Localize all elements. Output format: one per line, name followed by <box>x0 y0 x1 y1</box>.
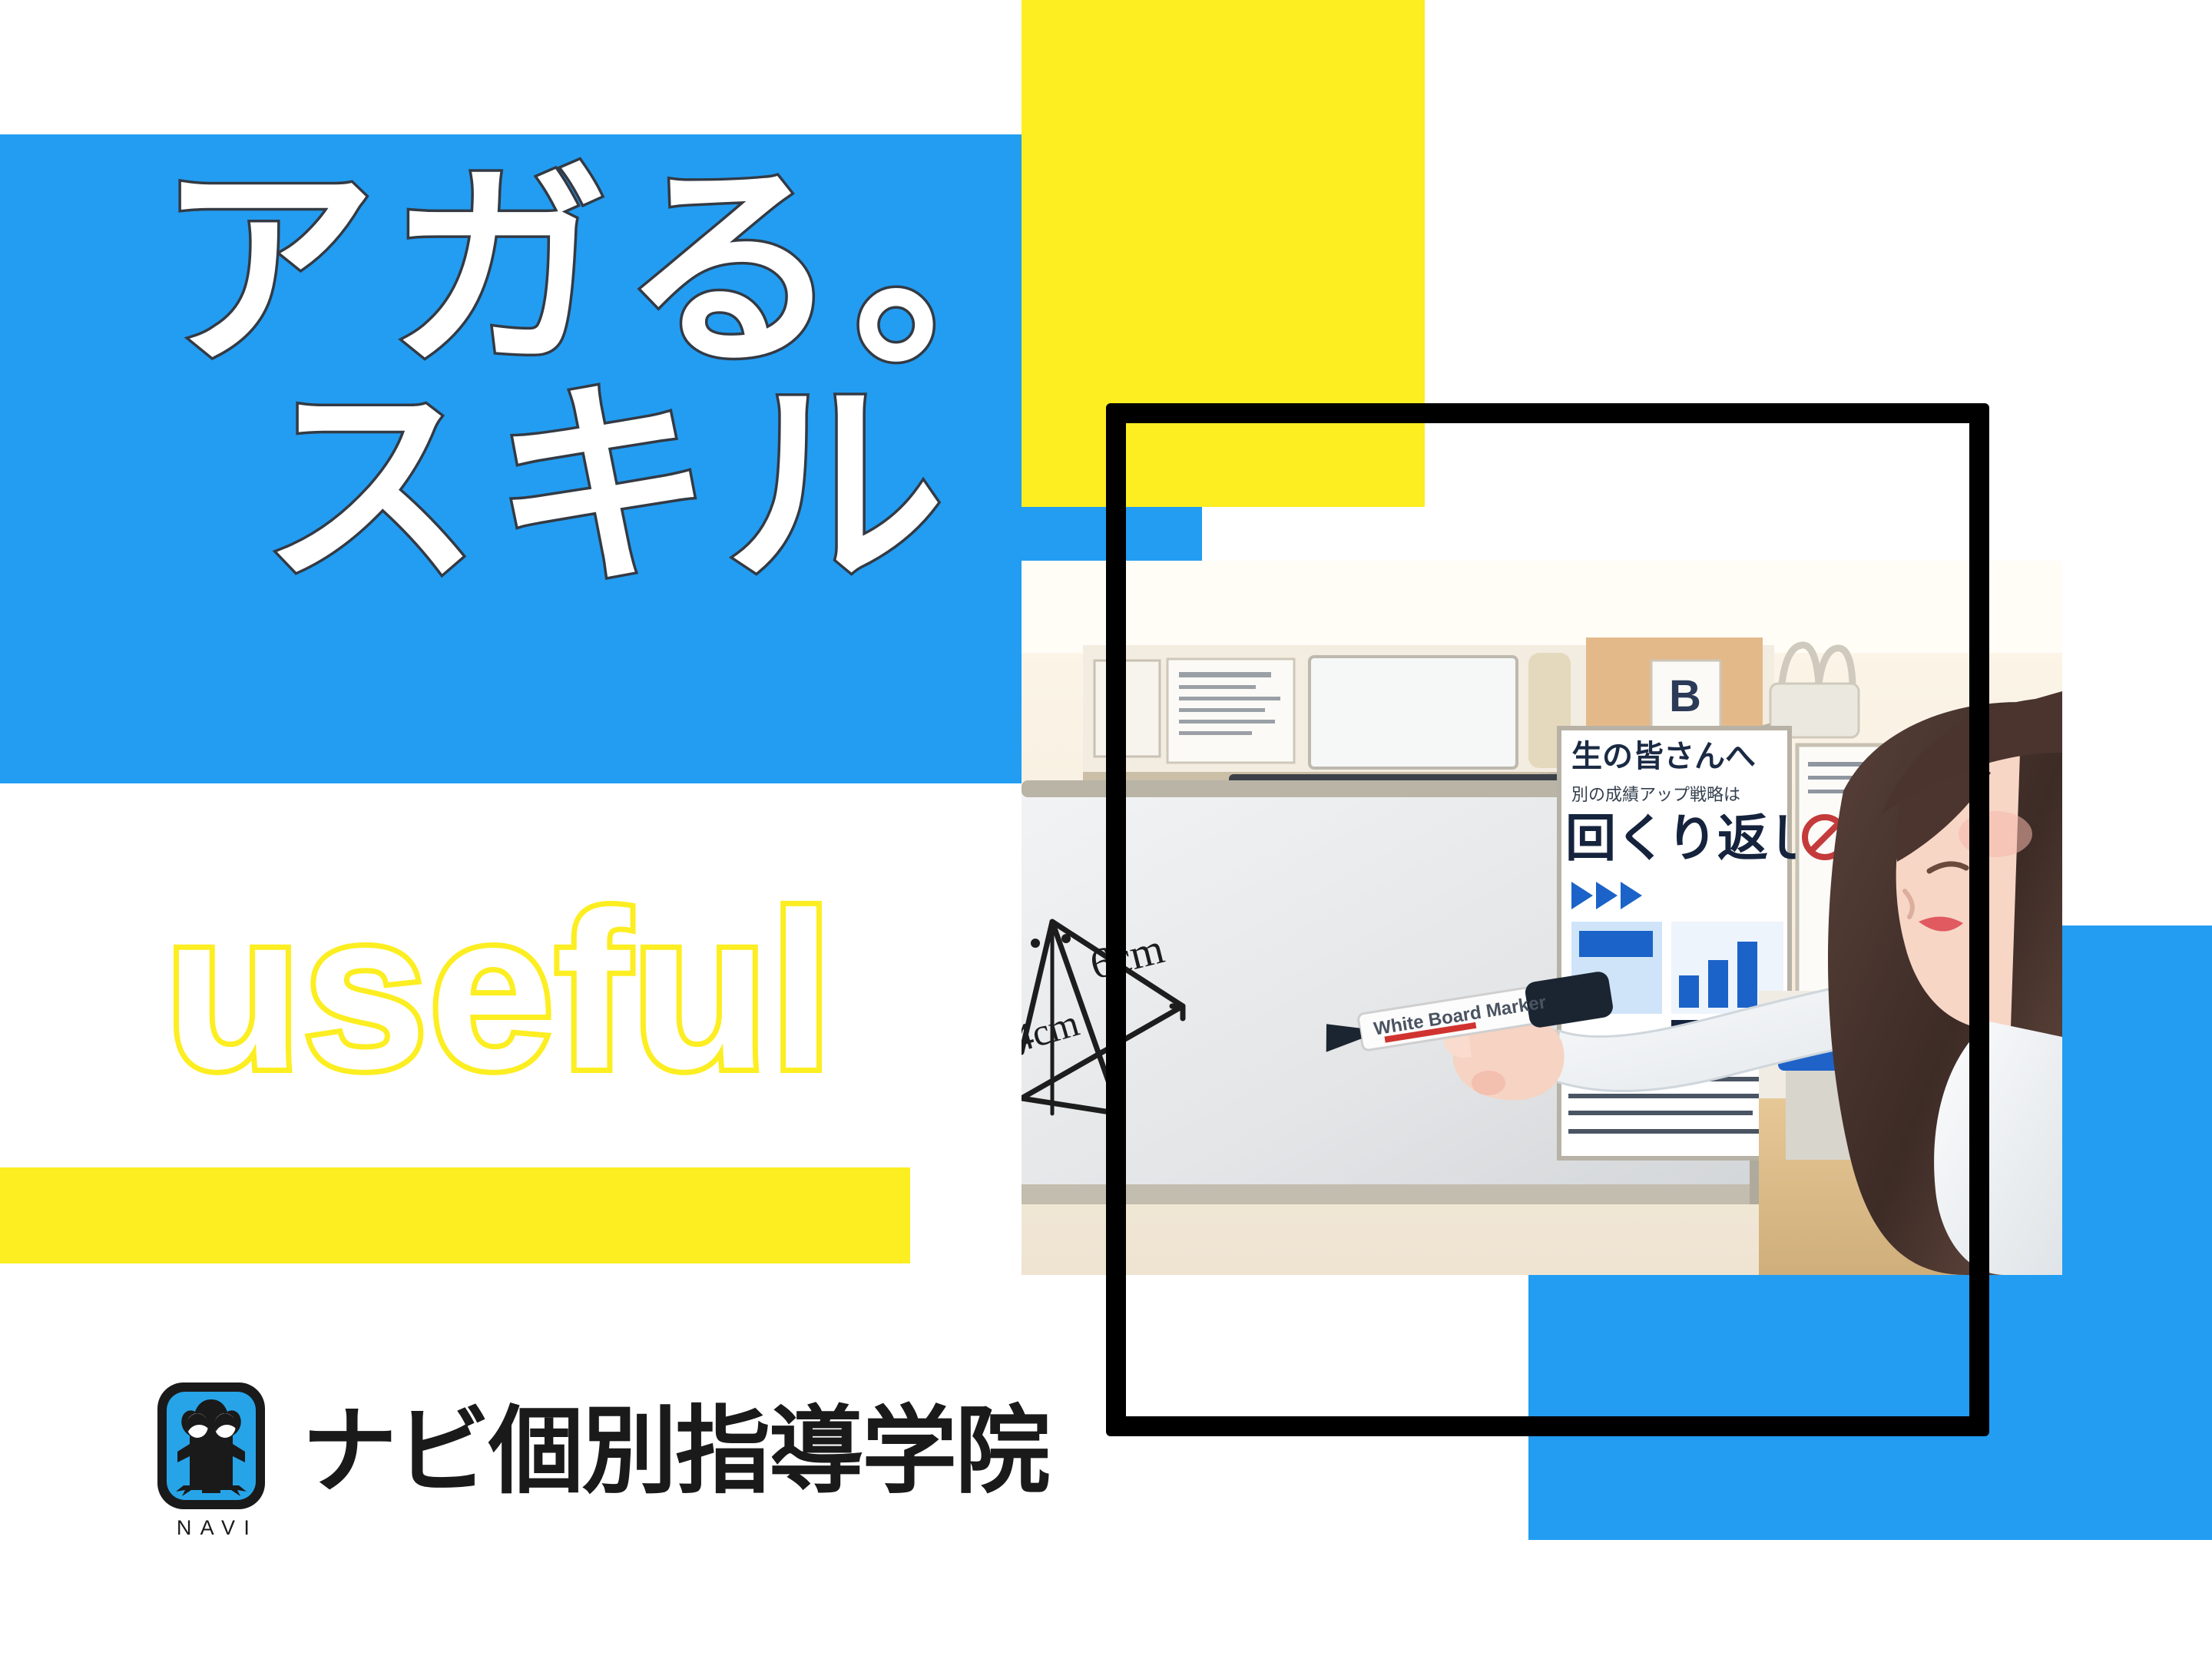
subhead-word: useful <box>165 879 933 1102</box>
svg-text:B: B <box>1669 671 1701 721</box>
headline: アガる。 スキル <box>142 165 1033 593</box>
yellow-band-bottom <box>0 1167 910 1263</box>
promo-banner: アガる。 スキル useful NAVI ナビ個別指導学院 <box>0 0 2212 1659</box>
logo-wordmark: ナビ個別指導学院 <box>302 1404 1048 1499</box>
subhead: useful <box>165 879 933 1102</box>
svg-text:別の成績アップ戦略は: 別の成績アップ戦略は <box>1571 785 1740 804</box>
logo-mark: NAVI <box>157 1382 273 1540</box>
classroom-photo-art: B 6cm 4cm <box>1022 561 2062 1275</box>
logo-mark-caption: NAVI <box>162 1516 273 1540</box>
headline-line-1: アガる。 <box>157 165 1033 376</box>
brand-logo: NAVI ナビ個別指導学院 <box>157 1382 1048 1540</box>
owl-mascot-icon <box>157 1382 265 1509</box>
logo-badge-field <box>167 1392 256 1500</box>
owl-mascot-glyph <box>167 1392 256 1500</box>
svg-text:生の皆さんへ: 生の皆さんへ <box>1571 740 1756 773</box>
classroom-photo: B 6cm 4cm <box>1022 561 2062 1275</box>
headline-line-2: スキル <box>261 383 1033 594</box>
